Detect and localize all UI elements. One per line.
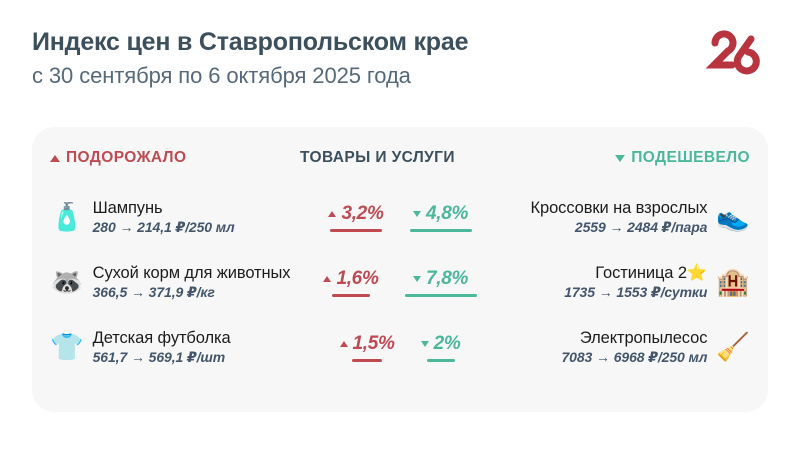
triangle-up-icon [50,155,60,162]
page-subtitle: с 30 сентября по 6 октября 2025 года [32,62,652,90]
item-decreased: Кроссовки на взрослых 2559 → 2484 ₽/пара… [450,199,750,236]
item-name: Гостиница 2⭐ [595,264,707,283]
table-row: 👕 Детская футболка 561,7 → 569,1 ₽/шт 1,… [32,315,768,380]
column-header-down-label: ПОДЕШЕВЕЛО [631,149,750,167]
column-header-middle: ТОВАРЫ И УСЛУГИ [300,149,455,167]
shampoo-bottle-icon: 🧴 [50,204,84,231]
item-decreased: Электропылесос 7083 → 6968 ₽/250 мл 🧹 [450,329,750,366]
sneaker-icon: 👟 [716,204,750,231]
triangle-up-icon [323,276,331,282]
column-header-up-label: ПОДОРОЖАЛО [66,149,186,167]
item-price: 280 → 214,1 ₽/250 мл [93,219,235,236]
percent-up-bar [330,229,382,233]
triangle-down-icon [413,211,421,217]
item-increased: 🦝 Сухой корм для животных 366,5 → 371,9 … [50,264,340,301]
rows-container: 🧴 Шампунь 280 → 214,1 ₽/250 мл 3,2% [32,185,768,380]
item-price: 7083 → 6968 ₽/250 мл [561,349,707,366]
item-price: 2559 → 2484 ₽/пара [575,219,707,236]
item-name: Шампунь [93,199,235,218]
column-header-up: ПОДОРОЖАЛО [50,149,186,167]
item-name: Электропылесос [580,329,708,348]
table-row: 🧴 Шампунь 280 → 214,1 ₽/250 мл 3,2% [32,185,768,250]
triangle-down-icon [413,276,421,282]
item-decreased: Гостиница 2⭐ 1735 → 1553 ₽/сутки 🏨 [450,264,750,301]
percent-up: 1,5% [340,333,395,363]
triangle-down-icon [421,341,429,347]
item-increased: 🧴 Шампунь 280 → 214,1 ₽/250 мл [50,199,340,236]
percent-up-bar [332,294,370,298]
column-headers: ПОДОРОЖАЛО ТОВАРЫ И УСЛУГИ ПОДЕШЕВЕЛО [32,127,768,179]
item-name: Детская футболка [93,329,231,348]
header: Индекс цен в Ставропольском крае с 30 се… [32,28,652,89]
triangle-up-icon [340,341,348,347]
infographic-page: Индекс цен в Ставропольском крае с 30 се… [0,0,800,450]
vacuum-cleaner-icon: 🧹 [716,334,750,361]
percent-up: 1,6% [323,268,378,298]
page-title: Индекс цен в Ставропольском крае [32,28,652,58]
item-price: 1735 → 1553 ₽/сутки [564,284,707,301]
percent-up-bar [352,359,382,363]
item-name: Сухой корм для животных [93,264,291,283]
price-index-card: ПОДОРОЖАЛО ТОВАРЫ И УСЛУГИ ПОДЕШЕВЕЛО 🧴 … [32,127,768,412]
percent-up-value: 1,6% [336,268,378,290]
hotel-icon: 🏨 [716,269,750,296]
item-increased: 👕 Детская футболка 561,7 → 569,1 ₽/шт [50,329,340,366]
percent-up: 3,2% [328,203,383,233]
item-price: 561,7 → 569,1 ₽/шт [93,349,231,366]
percent-up-value: 1,5% [353,333,395,355]
tshirt-icon: 👕 [50,334,84,361]
logo-26 [700,26,772,78]
column-header-down: ПОДЕШЕВЕЛО [615,149,750,167]
triangle-up-icon [328,211,336,217]
item-price: 366,5 → 371,9 ₽/кг [93,284,291,301]
percent-up-value: 3,2% [341,203,383,225]
pet-food-bag-icon: 🦝 [50,269,84,296]
item-name: Кроссовки на взрослых [531,199,708,218]
triangle-down-icon [615,155,625,162]
table-row: 🦝 Сухой корм для животных 366,5 → 371,9 … [32,250,768,315]
